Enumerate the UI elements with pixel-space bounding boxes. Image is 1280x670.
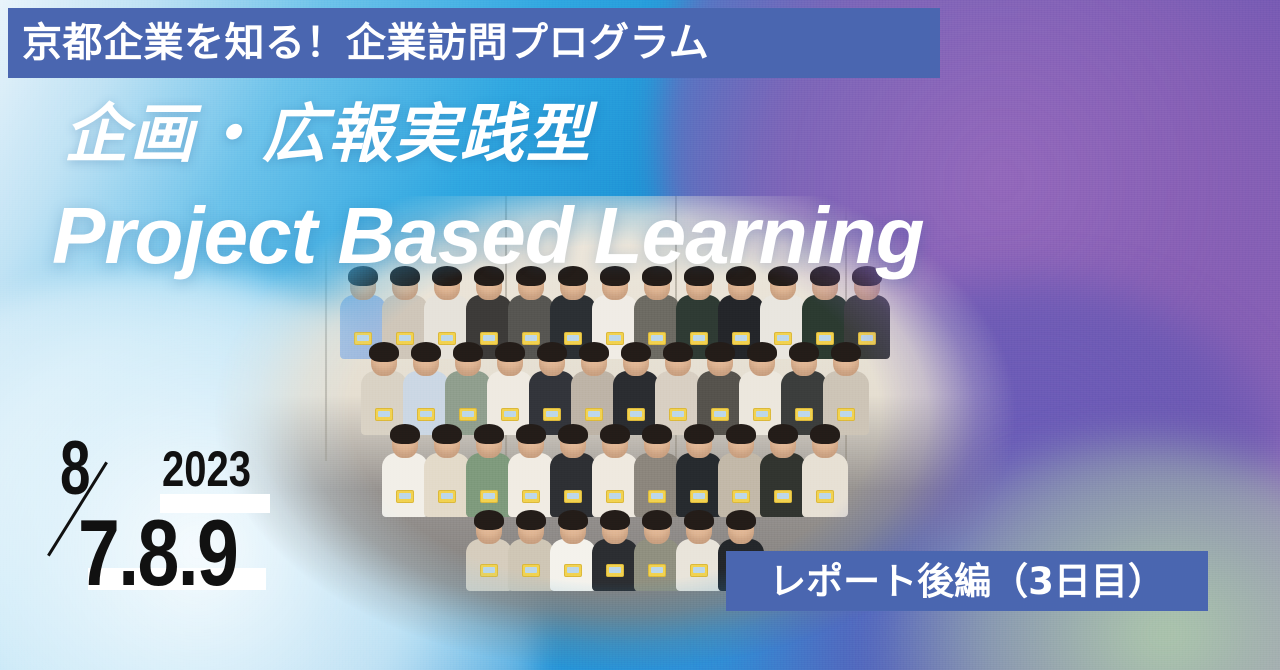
date-days: 7.8.9 — [78, 506, 237, 600]
poster-canvas: 京都企業を知る！企業訪問プログラム 企画・広報実践型 Project Based… — [0, 0, 1280, 670]
headline-english: Project Based Learning — [52, 196, 924, 276]
date-year: 2023 — [162, 444, 251, 494]
top-banner-text: 京都企業を知る！企業訪問プログラム — [22, 23, 709, 63]
headline-japanese: 企画・広報実践型 — [64, 103, 592, 167]
report-part-badge: レポート後編（3日目） — [726, 551, 1208, 611]
event-date-block: 8 2023 7.8.9 — [52, 430, 292, 620]
report-part-badge-text: レポート後編（3日目） — [769, 563, 1165, 600]
top-banner: 京都企業を知る！企業訪問プログラム — [8, 8, 940, 78]
